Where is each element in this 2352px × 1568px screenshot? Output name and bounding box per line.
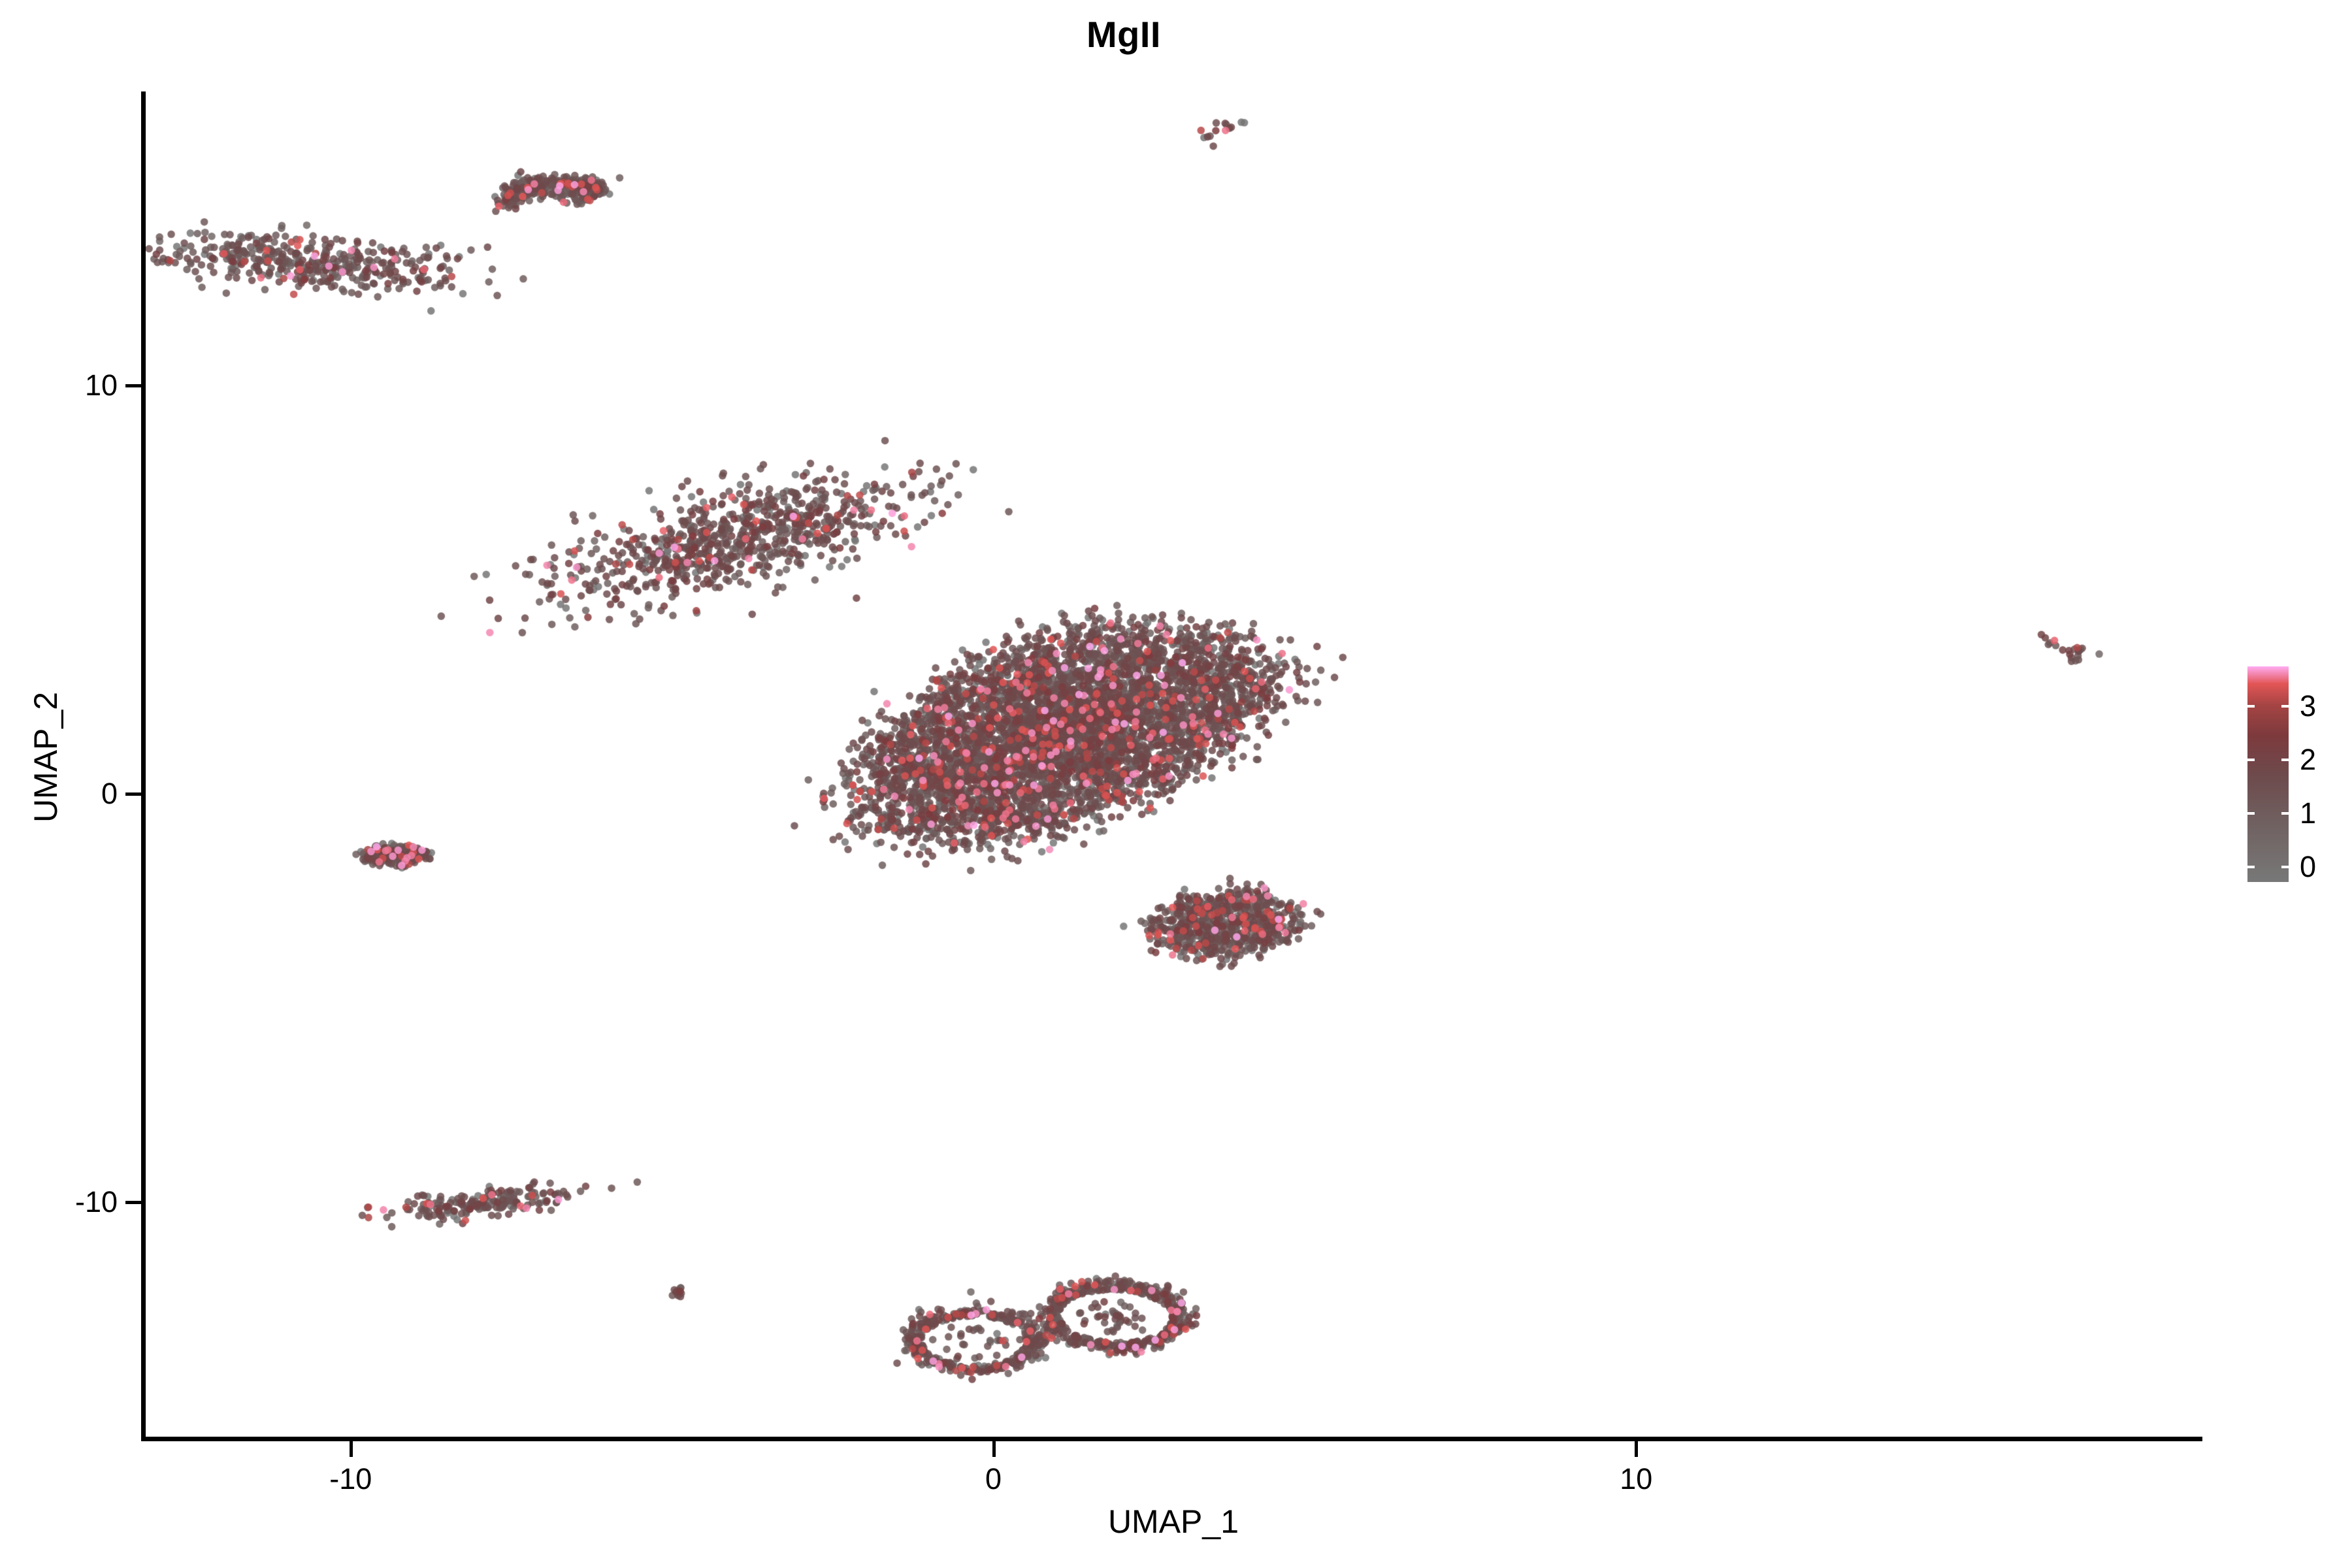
- y-tick-mark: [125, 1201, 141, 1204]
- x-tick-label: 0: [985, 1462, 1002, 1496]
- plot-panel: [145, 91, 2202, 1439]
- colorbar-tick-label: 3: [2300, 689, 2316, 723]
- colorbar-tick-mark: [2281, 866, 2289, 868]
- colorbar-tick-label: 1: [2300, 796, 2316, 830]
- colorbar-tick-mark: [2247, 866, 2255, 868]
- y-tick-label: 0: [101, 777, 118, 811]
- y-tick-mark: [125, 384, 141, 387]
- colorbar-tick-mark: [2281, 759, 2289, 761]
- x-tick-label: -10: [329, 1462, 372, 1496]
- y-axis-line: [141, 91, 146, 1440]
- colorbar-tick-label: 0: [2300, 850, 2316, 884]
- colorbar-gradient: [2247, 666, 2289, 882]
- x-tick-mark: [1635, 1441, 1638, 1457]
- x-tick-mark: [992, 1441, 996, 1457]
- color-legend: 0123: [2247, 666, 2345, 895]
- x-axis-title: UMAP_1: [145, 1503, 2202, 1541]
- y-axis-title: UMAP_2: [27, 431, 65, 1084]
- x-axis-line: [141, 1437, 2202, 1441]
- y-tick-label: 10: [85, 368, 118, 402]
- colorbar-tick-mark: [2281, 705, 2289, 708]
- y-tick-mark: [125, 792, 141, 796]
- page-title: MgII: [0, 13, 2247, 56]
- scatter-points-canvas: [145, 91, 2202, 1439]
- colorbar-tick-mark: [2281, 812, 2289, 815]
- x-tick-label: 10: [1620, 1462, 1652, 1496]
- colorbar-tick-mark: [2247, 759, 2255, 761]
- colorbar-tick-mark: [2247, 705, 2255, 708]
- colorbar-tick-mark: [2247, 812, 2255, 815]
- colorbar-tick-label: 2: [2300, 743, 2316, 777]
- y-tick-label: -10: [75, 1185, 118, 1219]
- x-tick-mark: [350, 1441, 353, 1457]
- umap-feature-plot: MgII -10010 -10010 UMAP_1 UMAP_2 0123: [0, 0, 2352, 1568]
